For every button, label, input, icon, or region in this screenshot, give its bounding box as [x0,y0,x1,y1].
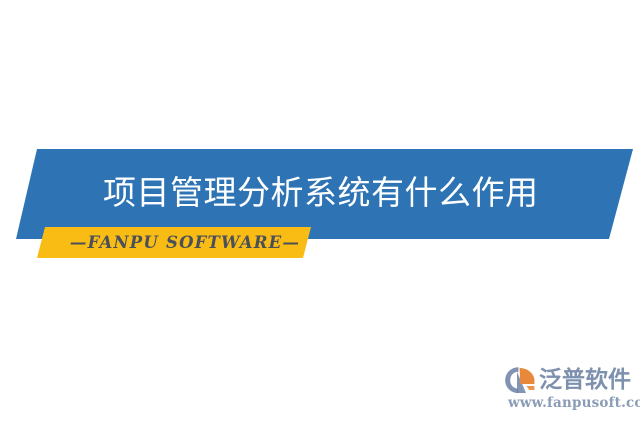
slide-canvas: 项目管理分析系统有什么作用 —FANPU SOFTWARE— 泛普软件 www.… [0,0,640,427]
brand-logo: 泛普软件 www.fanpusoft.com [504,365,638,417]
title-banner: 项目管理分析系统有什么作用 —FANPU SOFTWARE— [0,0,640,427]
banner-subtitle-ribbon: —FANPU SOFTWARE— [60,231,310,255]
logo-wordmark: 泛普软件 [539,365,631,395]
fanpu-logo-mark-icon [504,365,538,395]
banner-title: 项目管理分析系统有什么作用 [103,172,553,214]
logo-row: 泛普软件 [504,365,631,395]
logo-website-url: www.fanpusoft.com [508,395,640,411]
